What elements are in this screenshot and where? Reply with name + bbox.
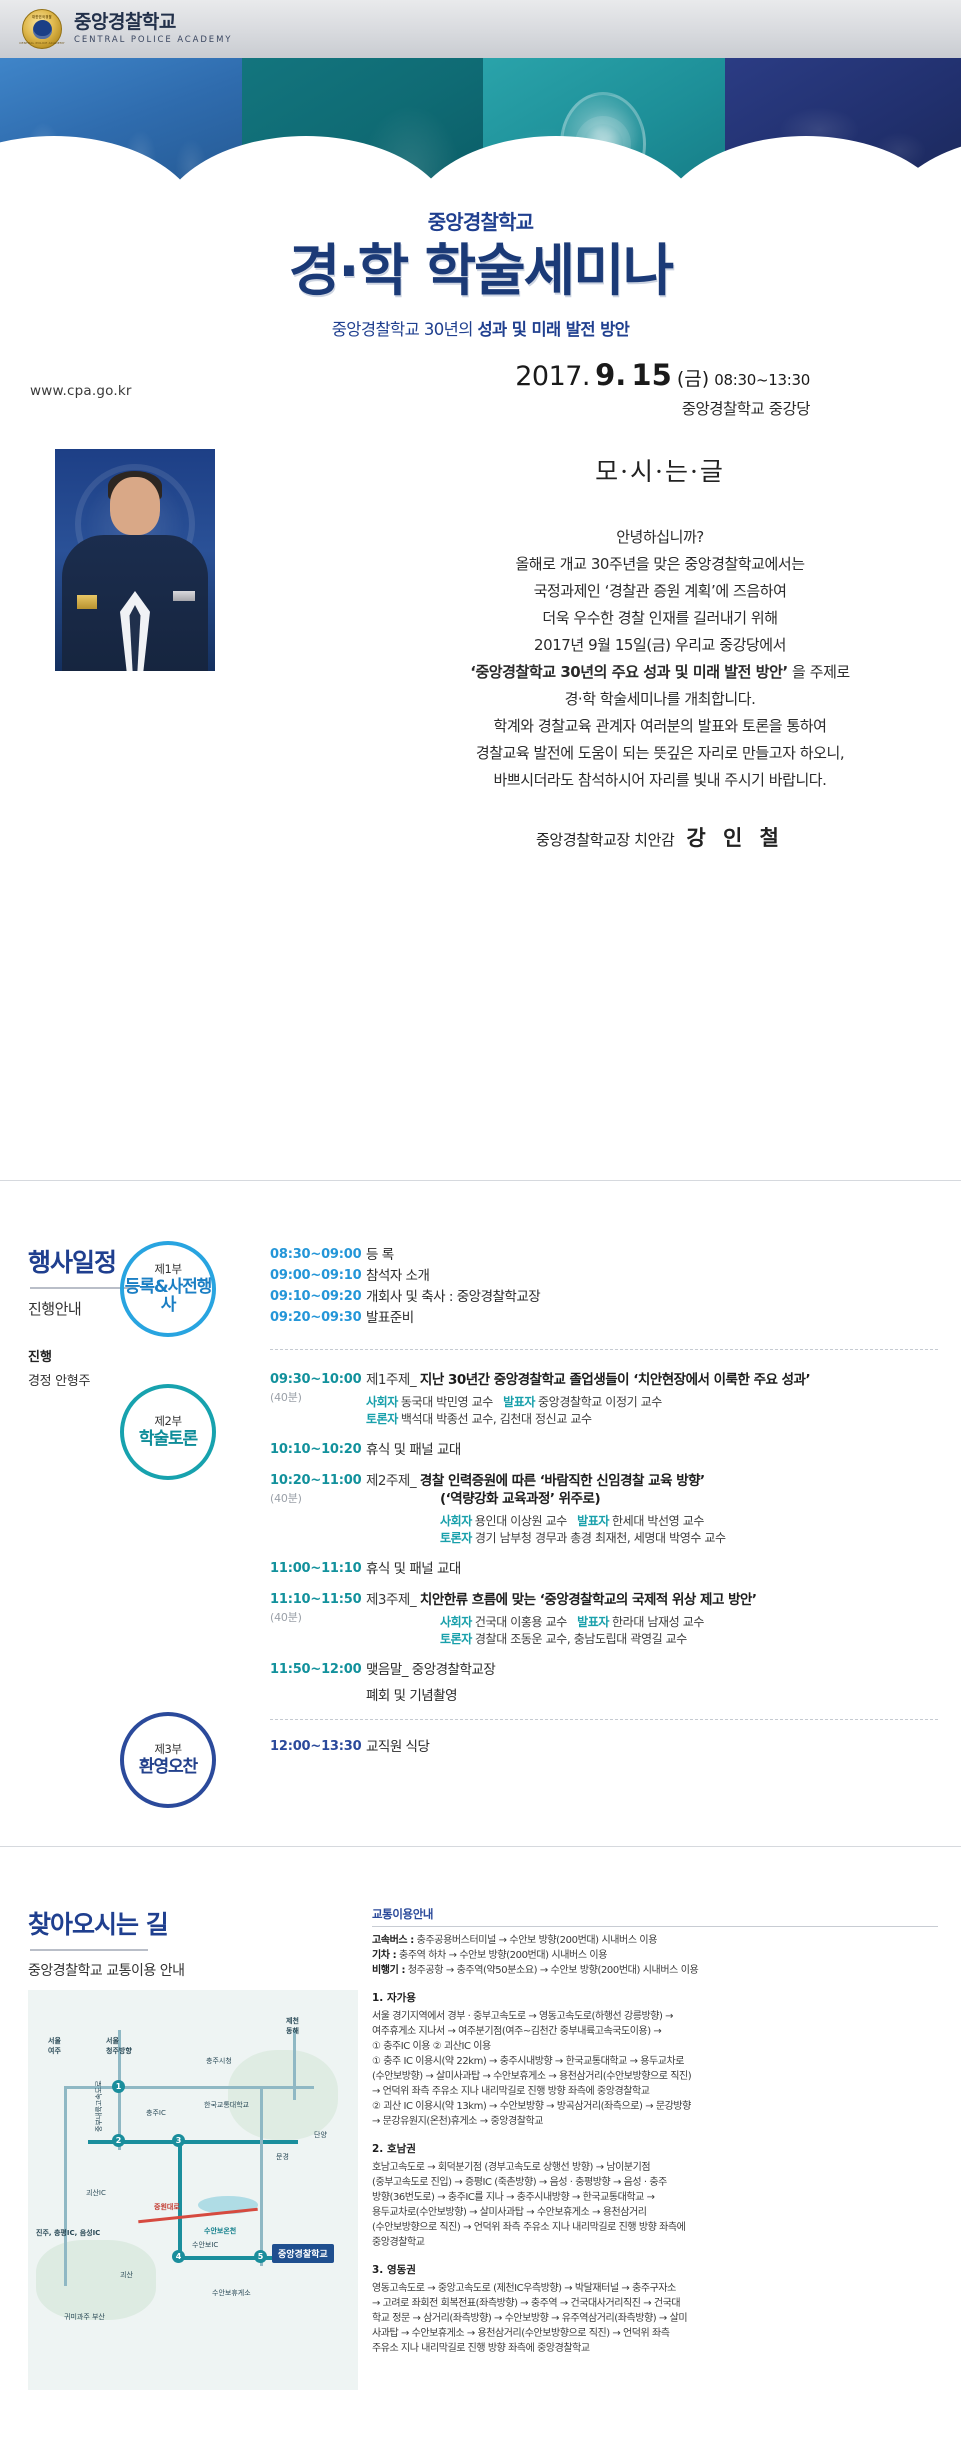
map-label-suanbo-ic: 수안보IC <box>192 2240 218 2250</box>
schedule-row: 10:10~10:20 휴식 및 패널 교대 <box>270 1441 938 1459</box>
greeting-line-5: 2017년 9월 15일(금) 우리교 중강당에서 <box>390 632 930 659</box>
directions-subtitle: 중앙경찰학교 교통이용 안내 <box>28 1960 184 1980</box>
location-map: 1 2 3 4 5 서울여주 서울청주방향 제천동해 충주시청 충주IC 괴산I… <box>28 1990 358 2390</box>
topic-1-people: 사회자동국대 박민영 교수 발표자중앙경찰학교 이정기 교수 토론자백석대 박종… <box>366 1394 938 1428</box>
directions-header: 찾아오시는 길 중앙경찰학교 교통이용 안내 <box>28 1905 184 1980</box>
moderator-role-label: 사회자 <box>366 1395 398 1409</box>
topic-3-duration: (40분) <box>270 1609 366 1625</box>
greeting-line-2: 올해로 개교 30주년을 맞은 중앙경찰학교에서는 <box>390 551 930 578</box>
schedule-row: 12:00~13:30 교직원 식당 <box>270 1738 938 1756</box>
row-text: 교직원 식당 <box>366 1738 938 1756</box>
schedule-row: 폐회 및 기념촬영 <box>270 1687 938 1705</box>
subtitle-bold: 성과 및 미래 발전 방안 <box>477 320 629 339</box>
map-label-jinju-line: 진주, 충평IC, 음성IC <box>36 2228 100 2238</box>
spacer <box>270 1462 938 1472</box>
topic-2-title-line2: (‘역량강화 교육과정’ 위주로) <box>366 1490 938 1508</box>
map-label-goesan: 괴산 <box>120 2270 133 2280</box>
map-background <box>28 1990 358 2390</box>
row-time: 08:30~09:00 <box>270 1246 366 1262</box>
map-node-4: 4 <box>172 2250 185 2263</box>
panel-role-label: 토론자 <box>440 1531 472 1545</box>
schedule-part-2-badge: 제2부 학술토론 <box>120 1384 216 1480</box>
topic-1-time: 09:30~10:00 <box>270 1372 361 1387</box>
map-label-chungju-ic: 충주IC <box>146 2108 166 2118</box>
schedule-row: 09:20~09:30 발표준비 <box>270 1309 938 1327</box>
map-terrain <box>36 2240 156 2320</box>
poster-subtitle: 중앙경찰학교 30년의 성과 및 미래 발전 방안 <box>0 316 961 340</box>
map-label-mungyeong: 문경 <box>276 2152 289 2162</box>
map-node-3: 3 <box>172 2134 185 2147</box>
row-time: 11:50~12:00 <box>270 1661 366 1677</box>
schedule-topic-row: 10:20~11:00 (40분) 제2주제_ 경찰 인력증원에 따른 ‘바람직… <box>270 1472 938 1547</box>
event-month: 9. <box>595 358 626 392</box>
schedule-row: 08:30~09:00 등 록 <box>270 1246 938 1264</box>
topic-1-label: 제1주제_ <box>366 1372 416 1388</box>
map-label-seoul-yeoju: 서울여주 <box>48 2036 61 2056</box>
map-label-suanbo-hotspring: 수안보온천 <box>204 2226 236 2236</box>
greeting-line-10: 바쁘시더라도 참석하시어 자리를 빛내 주시기 바랍니다. <box>390 767 930 794</box>
transit-label: 기차 : <box>372 1950 396 1961</box>
schedule-list: 08:30~09:00 등 록 09:00~09:10 참석자 소개 09:10… <box>270 1246 938 1759</box>
map-road-vertical <box>293 2030 296 2100</box>
topic-2-label: 제2주제_ <box>366 1473 416 1489</box>
emblem-top-text: 대한민국경찰 <box>32 14 52 19</box>
directions-line: 영동고속도로 → 중앙고속도로 (제천IC우측방향) → 박달재터널 → 충주구… <box>372 2281 938 2296</box>
directions-line: (수안보방향으로 직진) → 언덕위 좌측 주유소 지나 내리막길로 진행 방향… <box>372 2220 938 2235</box>
moderator-role-label: 사회자 <box>440 1514 472 1528</box>
part-2-number: 제2부 <box>154 1415 181 1428</box>
pre-title: 중앙경찰학교 <box>0 206 961 235</box>
greeting-line-4: 더욱 우수한 경찰 인재를 길러내기 위해 <box>390 605 930 632</box>
spacer <box>270 1581 938 1591</box>
map-terrain <box>228 2050 338 2140</box>
greeting-line-1: 안녕하십니까? <box>390 524 930 551</box>
greeting-body: 안녕하십니까? 올해로 개교 30주년을 맞은 중앙경찰학교에서는 국정과제인 … <box>390 524 930 794</box>
topic-3-body: 제3주제_ 치안한류 흐름에 맞는 ‘중앙경찰학교의 국제적 위상 제고 방안’… <box>366 1591 938 1648</box>
directions-line: 용두교차로(수안보방향) → 살미사과탑 → 수안보휴게소 → 용천삼거리 <box>372 2205 938 2220</box>
presenter-name: 중앙경찰학교 이정기 교수 <box>538 1395 662 1409</box>
event-venue: 중앙경찰학교 중강당 <box>682 397 810 419</box>
directions-section-heading: 2. 호남권 <box>372 2141 938 2156</box>
row-text: 폐회 및 기념촬영 <box>366 1687 938 1705</box>
part-1-name: 등록&사전행사 <box>124 1278 212 1315</box>
principal-portrait-photo <box>55 449 215 671</box>
row-time: 09:00~09:10 <box>270 1267 366 1283</box>
schedule-host-name: 경정 안형주 <box>28 1370 268 1389</box>
panel-names: 경기 남부청 경무과 총경 최재천, 세명대 박영수 교수 <box>475 1531 726 1545</box>
subtitle-plain: 중앙경찰학교 30년의 <box>332 320 478 339</box>
greeting-theme-bold: ‘중앙경찰학교 30년의 주요 성과 및 미래 발전 방안’ <box>470 663 788 681</box>
portrait-badge-icon <box>77 595 97 609</box>
topic-3-moderator-line: 사회자건국대 이홍용 교수 발표자한라대 남재성 교수 <box>440 1614 938 1631</box>
directions-line: 여주휴게소 지나서 → 여주분기점(여주~김천간 중부내륙고속국도이용) → <box>372 2024 938 2039</box>
greeting-line-6-tail: 을 주제로 <box>788 663 850 681</box>
topic-1-moderator-line: 사회자동국대 박민영 교수 발표자중앙경찰학교 이정기 교수 <box>366 1394 938 1411</box>
part-1-number: 제1부 <box>154 1263 181 1276</box>
directions-title: 찾아오시는 길 <box>28 1905 184 1941</box>
spacer <box>270 1431 938 1441</box>
row-text: 등 록 <box>366 1246 938 1264</box>
greeting-section: 모·시·는·글 안녕하십니까? 올해로 개교 30주년을 맞은 중앙경찰학교에서… <box>390 452 930 852</box>
topic-3-label: 제3주제_ <box>366 1592 416 1608</box>
presenter-role-label: 발표자 <box>503 1395 535 1409</box>
directions-line: 학교 정문 → 삼거리(좌측방향) → 수안보방향 → 유주역삼거리(좌측방향)… <box>372 2311 938 2326</box>
page-title: 경·학 학술세미나 <box>0 241 961 304</box>
directions-line: 중앙경찰학교 <box>372 2235 938 2250</box>
directions-line: ② 괴산 IC 이용시(약 13km) → 수안보방향 → 방곡삼거리(좌측으로… <box>372 2099 938 2114</box>
map-node-5: 5 <box>254 2250 267 2263</box>
schedule-part-1-badge: 제1부 등록&사전행사 <box>120 1241 216 1337</box>
section-divider <box>0 1846 961 1847</box>
map-node-1: 1 <box>112 2080 125 2093</box>
transit-label: 비행기 : <box>372 1965 405 1976</box>
signature-name: 강 인 철 <box>686 826 784 850</box>
panel-role-label: 토론자 <box>440 1632 472 1646</box>
row-time: 10:20~11:00 (40분) <box>270 1472 366 1506</box>
map-label-danyang: 단양 <box>314 2130 327 2140</box>
directions-line: ① 충주IC 이용 ② 괴산IC 이용 <box>372 2039 938 2054</box>
directions-section-heading: 3. 영동권 <box>372 2262 938 2277</box>
greeting-heading: 모·시·는·글 <box>390 452 930 488</box>
greeting-line-7: 경·학 학술세미나를 개최합니다. <box>390 686 930 713</box>
row-text: 휴식 및 패널 교대 <box>366 1560 938 1578</box>
topic-1-panel-line: 토론자백석대 박종선 교수, 김천대 정신교 교수 <box>366 1411 938 1428</box>
directions-line: → 언덕위 좌측 주유소 지나 내리막길로 진행 방향 좌측에 중앙경찰학교 <box>372 2084 938 2099</box>
panel-names: 백석대 박종선 교수, 김천대 정신교 교수 <box>401 1412 592 1426</box>
part-3-number: 제3부 <box>154 1743 181 1756</box>
greeting-line-6: ‘중앙경찰학교 30년의 주요 성과 및 미래 발전 방안’ 을 주제로 <box>390 659 930 686</box>
map-road-vertical <box>64 2086 67 2286</box>
row-time: 11:00~11:10 <box>270 1560 366 1576</box>
hero-image-band <box>0 58 961 208</box>
panel-role-label: 토론자 <box>366 1412 398 1426</box>
transit-value: 충주공용버스터미널 → 수안보 방향(200번대) 시내버스 이용 <box>414 1935 657 1946</box>
directions-line: 주유소 지나 내리막길로 진행 방향 좌측에 중앙경찰학교 <box>372 2341 938 2356</box>
row-time: 10:10~10:20 <box>270 1441 366 1457</box>
topic-2-duration: (40분) <box>270 1490 366 1506</box>
map-label-hanguk-univ: 한국교통대학교 <box>204 2100 249 2110</box>
directions-line: → 고려로 좌회전 회복전표(좌측방향) → 충주역 → 건국대사거리직진 → … <box>372 2296 938 2311</box>
directions-line: 호남고속도로 → 회덕분기점 (경부고속도로 상행선 방향) → 남이분기점 <box>372 2160 938 2175</box>
map-node-2: 2 <box>112 2134 125 2147</box>
transit-guide-title: 교통이용안내 <box>372 1906 938 1927</box>
row-text: 맺음말_ 중앙경찰학교장 <box>366 1661 938 1679</box>
map-label-expressway: 중부내륙고속도로 <box>94 2080 104 2132</box>
directions-line: 방향(36번도로) → 충주IC를 지나 → 충주시내방향 → 한국교통대학교 … <box>372 2190 938 2205</box>
row-time: 09:10~09:20 <box>270 1288 366 1304</box>
directions-line: ① 충주 IC 이용시(약 22km) → 충주시내방향 → 한국교통대학교 →… <box>372 2054 938 2069</box>
row-text: 발표준비 <box>366 1309 938 1327</box>
greeting-signature: 중앙경찰학교장 치안감강 인 철 <box>390 822 930 852</box>
schedule-part-3-badge: 제3부 환영오찬 <box>120 1712 216 1808</box>
topic-3-title: 치안한류 흐름에 맞는 ‘중앙경찰학교의 국제적 위상 제고 방안’ <box>420 1592 757 1608</box>
row-text: 개회사 및 축사 : 중앙경찰학교장 <box>366 1288 938 1306</box>
dashed-divider <box>270 1719 938 1720</box>
header-titles: 중앙경찰학교 CENTRAL POLICE ACADEMY <box>74 13 232 45</box>
panel-names: 경찰대 조동운 교수, 충남도립대 곽영길 교수 <box>475 1632 687 1646</box>
schedule-topic-row: 11:10~11:50 (40분) 제3주제_ 치안한류 흐름에 맞는 ‘중앙경… <box>270 1591 938 1648</box>
signature-title: 중앙경찰학교장 치안감 <box>536 831 674 849</box>
map-label-jungwon-daero: 중원대로 <box>154 2202 180 2212</box>
moderator-name: 동국대 박민영 교수 <box>401 1395 493 1409</box>
row-text: 휴식 및 패널 교대 <box>366 1441 938 1459</box>
presenter-role-label: 발표자 <box>577 1615 609 1629</box>
spacer <box>270 1550 938 1560</box>
event-dayofweek: (금) <box>677 368 709 390</box>
directions-line: 서울 경기지역에서 경부 · 중부고속도로 → 영동고속도로(하행선 강릉방향)… <box>372 2009 938 2024</box>
row-time <box>270 1687 366 1688</box>
row-time: 12:00~13:30 <box>270 1738 366 1754</box>
moderator-role-label: 사회자 <box>440 1615 472 1629</box>
schedule-row: 11:00~11:10 휴식 및 패널 교대 <box>270 1560 938 1578</box>
map-label-goesan-ic: 괴산IC <box>86 2188 106 2198</box>
transit-label: 고속버스 : <box>372 1935 414 1946</box>
topic-2-people: 사회자용인대 이상원 교수 발표자한세대 박선영 교수 토론자경기 남부청 경무… <box>366 1513 938 1547</box>
schedule-row: 09:10~09:20 개회사 및 축사 : 중앙경찰학교장 <box>270 1288 938 1306</box>
map-road-vertical <box>260 2086 263 2266</box>
part-3-name: 환영오찬 <box>139 1758 197 1777</box>
poster-title-block: 중앙경찰학교 경·학 학술세미나 중앙경찰학교 30년의 성과 및 미래 발전 … <box>0 206 961 340</box>
map-road-main <box>178 2140 182 2260</box>
presenter-name: 한세대 박선영 교수 <box>612 1514 704 1528</box>
row-text: 참석자 소개 <box>366 1267 938 1285</box>
portrait-face <box>110 477 160 535</box>
topic-3-people: 사회자건국대 이홍용 교수 발표자한라대 남재성 교수 토론자경찰대 조동운 교… <box>366 1614 938 1648</box>
emblem-bottom-text: CENTRAL POLICE ACADEMY <box>19 41 65 45</box>
topic-3-panel-line: 토론자경찰대 조동운 교수, 충남도립대 곽영길 교수 <box>440 1631 938 1648</box>
site-url-link[interactable]: www.cpa.go.kr <box>30 383 132 399</box>
directions-line: 사과탑 → 수안보휴게소 → 용천삼거리(수안보방향으로 직진) → 언덕위 좌… <box>372 2326 938 2341</box>
map-label-suanbo-rest: 수안보휴게소 <box>212 2288 251 2298</box>
row-time: 09:20~09:30 <box>270 1309 366 1325</box>
schedule-topic-row: 09:30~10:00 (40분) 제1주제_ 지난 30년간 중앙경찰학교 졸… <box>270 1371 938 1428</box>
topic-2-time: 10:20~11:00 <box>270 1473 361 1488</box>
transit-line: 고속버스 : 충주공용버스터미널 → 수안보 방향(200번대) 시내버스 이용 <box>372 1933 938 1948</box>
presenter-name: 한라대 남재성 교수 <box>612 1615 704 1629</box>
directions-line: → 문강유원지(온천)휴게소 → 중앙경찰학교 <box>372 2114 938 2129</box>
event-day: 15 <box>631 358 671 392</box>
event-time: 08:30~13:30 <box>714 371 810 389</box>
greeting-line-9: 경찰교육 발전에 도움이 되는 뜻깊은 자리로 만들고자 하오니, <box>390 740 930 767</box>
map-destination-marker: 중앙경찰학교 <box>272 2244 334 2263</box>
header-org-kr: 중앙경찰학교 <box>74 13 232 32</box>
directions-section-heading: 1. 자가용 <box>372 1990 938 2005</box>
greeting-line-3: 국정과제인 ‘경찰관 증원 계획’에 즈음하여 <box>390 578 930 605</box>
site-header: 대한민국경찰 CENTRAL POLICE ACADEMY 중앙경찰학교 CEN… <box>0 0 961 58</box>
row-time: 11:10~11:50 (40분) <box>270 1591 366 1625</box>
directions-line: (중부고속도로 진입) → 증평IC (죽촌방향) → 음성 · 충평방향 → … <box>372 2175 938 2190</box>
schedule-host-label: 진행 <box>28 1346 268 1365</box>
topic-2-panel-line: 토론자경기 남부청 경무과 총경 최재천, 세명대 박영수 교수 <box>440 1530 938 1547</box>
map-label-chungju-station: 충주시청 <box>206 2056 232 2066</box>
presenter-role-label: 발표자 <box>577 1514 609 1528</box>
map-label-jecheon-donghae: 제천동해 <box>286 2016 299 2036</box>
transit-line: 기차 : 충주역 하차 → 수안보 방향(200번대) 시내버스 이용 <box>372 1948 938 1963</box>
title-underline <box>30 1949 148 1951</box>
topic-1-body: 제1주제_ 지난 30년간 중앙경찰학교 졸업생들이 ‘치안현장에서 이룩한 주… <box>366 1371 938 1428</box>
police-emblem-icon: 대한민국경찰 CENTRAL POLICE ACADEMY <box>22 9 62 49</box>
row-time: 09:30~10:00 (40분) <box>270 1371 366 1405</box>
map-label-seoul-cheongju: 서울청주방향 <box>106 2036 132 2056</box>
topic-2-moderator-line: 사회자용인대 이상원 교수 발표자한세대 박선영 교수 <box>440 1513 938 1530</box>
portrait-rank-insignia-icon <box>173 591 195 601</box>
greeting-line-8: 학계와 경찰교육 관계자 여러분의 발표와 토론을 통하여 <box>390 713 930 740</box>
header-org-en: CENTRAL POLICE ACADEMY <box>74 36 232 45</box>
moderator-name: 건국대 이홍용 교수 <box>475 1615 567 1629</box>
topic-3-time: 11:10~11:50 <box>270 1592 361 1607</box>
event-year: 2017. <box>515 361 590 392</box>
moderator-name: 용인대 이상원 교수 <box>475 1514 567 1528</box>
schedule-row: 09:00~09:10 참석자 소개 <box>270 1267 938 1285</box>
transit-value: 청주공항 → 충주역(약50분소요) → 수안보 방향(200번대) 시내버스 … <box>405 1965 698 1976</box>
directions-line: (수안보방향) → 살미사과탑 → 수안보휴게소 → 용천삼거리(수안보방향으로… <box>372 2069 938 2084</box>
schedule-row: 11:50~12:00 맺음말_ 중앙경찰학교장 <box>270 1661 938 1679</box>
topic-1-title: 지난 30년간 중앙경찰학교 졸업생들이 ‘치안현장에서 이룩한 주요 성과’ <box>420 1372 810 1388</box>
transit-value: 충주역 하차 → 수안보 방향(200번대) 시내버스 이용 <box>396 1950 607 1961</box>
spacer <box>270 1651 938 1661</box>
topic-1-duration: (40분) <box>270 1389 366 1405</box>
transit-line: 비행기 : 청주공항 → 충주역(약50분소요) → 수안보 방향(200번대)… <box>372 1963 938 1978</box>
section-divider <box>0 1180 961 1181</box>
event-datetime: 2017. 9. 15 (금) 08:30~13:30 <box>515 358 810 392</box>
directions-text-block: 교통이용안내 고속버스 : 충주공용버스터미널 → 수안보 방향(200번대) … <box>372 1906 938 2356</box>
part-2-name: 학술토론 <box>139 1430 197 1449</box>
map-label-gwisan: 귀미과주 부산 <box>64 2312 105 2322</box>
topic-2-body: 제2주제_ 경찰 인력증원에 따른 ‘바람직한 신임경찰 교육 방향’ (‘역량… <box>366 1472 938 1547</box>
dashed-divider <box>270 1349 938 1350</box>
topic-2-title: 경찰 인력증원에 따른 ‘바람직한 신임경찰 교육 방향’ <box>420 1473 705 1489</box>
